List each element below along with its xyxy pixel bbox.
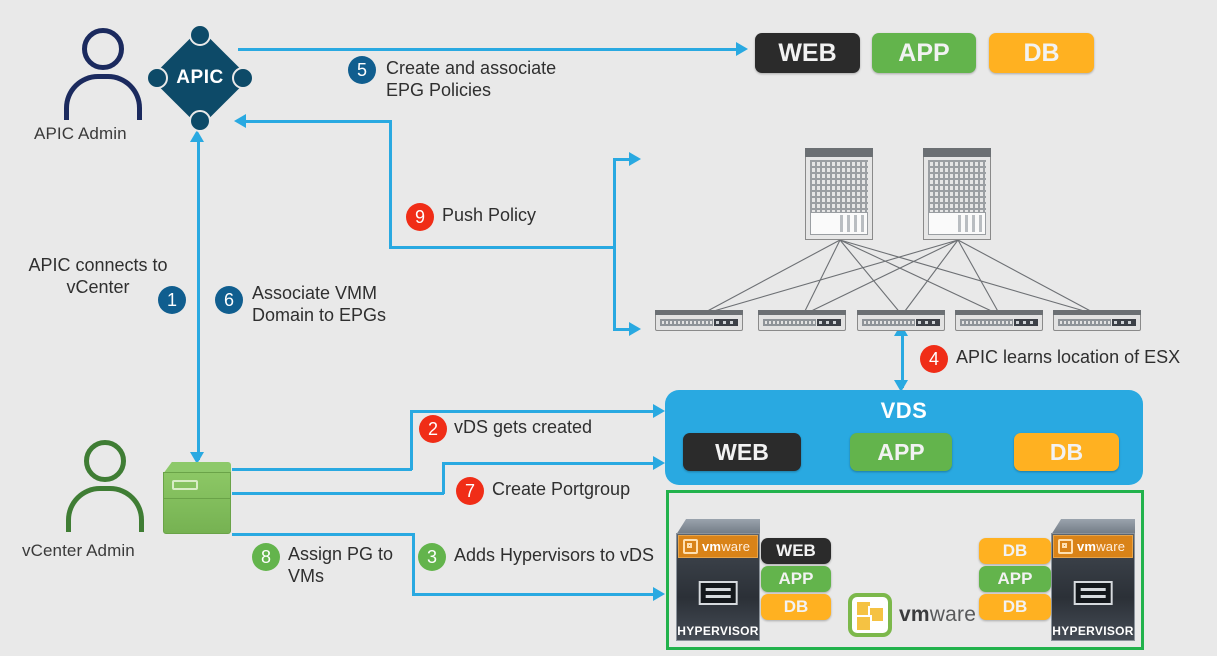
leaf-cap-icon: [857, 310, 945, 315]
connector-vcenter-to-apic: [197, 140, 200, 460]
step-5-badge: 5: [348, 56, 376, 84]
connector-push-policy-bottom: [389, 246, 615, 249]
hypervisor-left-vm-db[interactable]: DB: [761, 594, 831, 620]
connector-portgroup-b: [442, 462, 655, 465]
hypervisor-right-label: HYPERVISOR: [1051, 624, 1135, 638]
leaf-ports-icon: [1058, 319, 1111, 326]
connector-vds-created-v: [410, 410, 413, 470]
vmware-brand-bold: vm: [1077, 539, 1096, 554]
step-5-label: Create and associate EPG Policies: [386, 58, 616, 102]
vmware-brand-light: ware: [1096, 539, 1125, 554]
epg-chip-app-label: APP: [898, 39, 949, 68]
leaf-ports-icon: [960, 319, 1013, 326]
leaf-uplinks-icon: [1014, 319, 1038, 326]
hypervisor-left-vm-web[interactable]: WEB: [761, 538, 831, 564]
step-2-badge: 2: [419, 415, 447, 443]
spine-switch-1[interactable]: [805, 148, 873, 240]
step-9-badge: 9: [406, 203, 434, 231]
step-4-number: 4: [929, 349, 939, 370]
spine-ports-icon: [928, 160, 986, 216]
vcenter-admin-icon: [62, 440, 148, 532]
connector-hypervisors-a: [232, 533, 414, 536]
vmware-logo-bold: vm: [899, 603, 930, 626]
leaf-uplinks-icon: [817, 319, 841, 326]
connector-fabric-branch-up: [613, 158, 616, 248]
apic-admin-head-icon: [82, 28, 124, 70]
diagram-canvas: APIC Admin APIC WEB APP DB 5 Create and …: [0, 0, 1217, 656]
vmware-brand-bold: vm: [702, 539, 721, 554]
connector-portgroup-a: [232, 492, 444, 495]
epg-chip-db[interactable]: DB: [989, 33, 1094, 73]
arrow-apic-to-epg: [736, 42, 748, 56]
epg-chip-web-label: WEB: [778, 39, 836, 68]
step-9-number: 9: [415, 207, 425, 228]
vmware-glyph-icon: [848, 593, 892, 637]
hypervisor-left-vm-db-label: DB: [784, 597, 809, 617]
vds-chip-app-label: APP: [877, 439, 924, 466]
vds-panel[interactable]: VDS WEB APP DB: [665, 390, 1143, 485]
spine-cap-icon: [805, 148, 873, 157]
step-6-number: 6: [224, 290, 234, 311]
apic-label: APIC: [150, 28, 250, 128]
step-7-label: Create Portgroup: [492, 479, 672, 501]
connector-push-policy-top: [244, 120, 392, 123]
step-1-badge: 1: [158, 286, 186, 314]
vmware-mark-icon: [1058, 539, 1073, 554]
step-8-label: Assign PG to VMs: [288, 544, 418, 588]
step-6-label: Associate VMM Domain to EPGs: [252, 283, 422, 327]
leaf-cap-icon: [1053, 310, 1141, 315]
step-6-badge: 6: [215, 286, 243, 314]
epg-chip-web[interactable]: WEB: [755, 33, 860, 73]
leaf-switch-3[interactable]: [857, 310, 945, 331]
leaf-switch-1[interactable]: [655, 310, 743, 331]
step-7-number: 7: [465, 481, 475, 502]
leaf-uplinks-icon: [916, 319, 940, 326]
arrow-hypervisors: [653, 587, 665, 601]
leaf-cap-icon: [955, 310, 1043, 315]
vcenter-admin-body-icon: [66, 486, 144, 532]
spine-modules-icon: [810, 212, 868, 235]
connector-vds-created-a: [232, 468, 412, 471]
step-9-label: Push Policy: [442, 205, 602, 227]
step-1-number: 1: [167, 290, 177, 311]
leaf-switch-2[interactable]: [758, 310, 846, 331]
leaf-ports-icon: [660, 319, 713, 326]
leaf-ports-icon: [862, 319, 915, 326]
spine-ports-icon: [810, 160, 868, 216]
leaf-cap-icon: [655, 310, 743, 315]
apic-admin-label: APIC Admin: [34, 124, 127, 144]
vmware-logo-light: ware: [930, 603, 976, 626]
leaf-ports-icon: [763, 319, 816, 326]
step-3-badge: 3: [418, 543, 446, 571]
connector-hypervisors-b: [412, 593, 655, 596]
vmware-banner-text: vmware: [702, 539, 750, 554]
vcenter-server-divider-icon: [164, 498, 230, 499]
leaf-switch-5[interactable]: [1053, 310, 1141, 331]
arrow-vds-created: [653, 404, 665, 418]
vds-chip-web[interactable]: WEB: [683, 433, 801, 471]
leaf-switch-4[interactable]: [955, 310, 1043, 331]
step-1-label: APIC connects to vCenter: [18, 255, 178, 299]
hypervisor-left-vm-web-label: WEB: [776, 541, 816, 561]
apic-admin-icon: [60, 28, 146, 120]
vds-chip-db[interactable]: DB: [1014, 433, 1119, 471]
vcenter-server-icon[interactable]: [163, 462, 231, 534]
vmware-banner-left: vmware: [678, 535, 758, 558]
vcenter-server-led-icon: [172, 480, 198, 490]
vcenter-admin-head-icon: [84, 440, 126, 482]
step-2-number: 2: [428, 419, 438, 440]
connector-apic-to-epg: [238, 48, 738, 51]
vmware-logo-text: vmware: [899, 603, 976, 627]
connector-vds-created-b: [410, 410, 655, 413]
step-5-number: 5: [357, 60, 367, 81]
vmware-banner-right: vmware: [1053, 535, 1133, 558]
epg-chip-db-label: DB: [1023, 39, 1059, 68]
spine-modules-icon: [928, 212, 986, 235]
step-7-badge: 7: [456, 477, 484, 505]
vmware-banner-text: vmware: [1077, 539, 1125, 554]
hypervisor-left-label: HYPERVISOR: [676, 624, 760, 638]
step-3-number: 3: [427, 547, 437, 568]
step-4-label: APIC learns location of ESX: [956, 347, 1206, 369]
hypervisor-right-vm-db-1-label: DB: [1003, 541, 1028, 561]
connector-fabric-branch-down: [613, 246, 616, 330]
apic-admin-body-icon: [64, 74, 142, 120]
vmware-brand-light: ware: [721, 539, 750, 554]
hypervisor-right-vm-app-label: APP: [998, 569, 1033, 589]
vcenter-admin-label: vCenter Admin: [22, 541, 135, 561]
connector-portgroup-v: [442, 462, 445, 494]
leaf-uplinks-icon: [714, 319, 738, 326]
hypervisor-right-vm-db-1[interactable]: DB: [979, 538, 1051, 564]
hypervisor-left-vm-app-label: APP: [779, 569, 814, 589]
hypervisor-right-vm-app[interactable]: APP: [979, 566, 1051, 592]
connector-push-policy-vert: [389, 120, 392, 248]
vmware-mark-icon: [683, 539, 698, 554]
leaf-cap-icon: [758, 310, 846, 315]
vds-title: VDS: [665, 398, 1143, 424]
hypervisor-left[interactable]: vmware HYPERVISOR: [676, 519, 760, 641]
leaf-uplinks-icon: [1112, 319, 1136, 326]
hypervisor-right[interactable]: vmware HYPERVISOR: [1051, 519, 1135, 641]
chassis-slot-icon: [699, 581, 738, 605]
step-8-number: 8: [261, 547, 271, 568]
epg-chip-app[interactable]: APP: [872, 33, 976, 73]
vds-chip-web-label: WEB: [715, 439, 769, 466]
spine-cap-icon: [923, 148, 991, 157]
hypervisor-left-vm-app[interactable]: APP: [761, 566, 831, 592]
step-4-badge: 4: [920, 345, 948, 373]
hypervisor-right-vm-db-2[interactable]: DB: [979, 594, 1051, 620]
arrow-portgroup: [653, 456, 665, 470]
hypervisor-right-vm-db-2-label: DB: [1003, 597, 1028, 617]
spine-switch-2[interactable]: [923, 148, 991, 240]
vds-chip-app[interactable]: APP: [850, 433, 952, 471]
step-2-label: vDS gets created: [454, 417, 654, 439]
vds-chip-db-label: DB: [1050, 439, 1083, 466]
apic-controller[interactable]: APIC: [150, 28, 250, 128]
vmware-logo: vmware: [848, 593, 976, 637]
chassis-slot-icon: [1074, 581, 1113, 605]
step-8-badge: 8: [252, 543, 280, 571]
